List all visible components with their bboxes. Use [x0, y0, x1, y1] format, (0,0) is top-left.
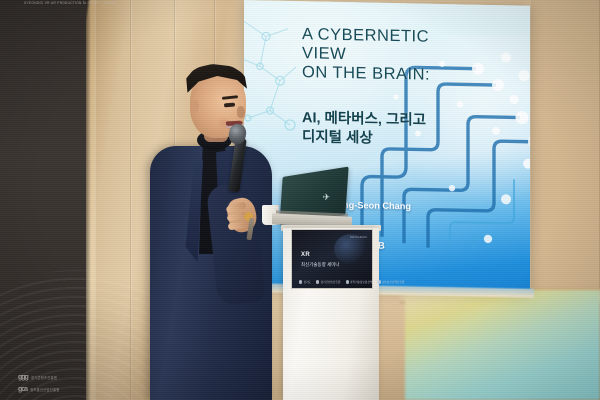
sponsor-label: 과학기술정보통신부: [350, 280, 372, 284]
gca-logo-icon: gca: [18, 386, 27, 393]
speaker: [150, 72, 275, 400]
banner-logo-primary: ggg 경기콘텐츠진흥원: [18, 374, 57, 381]
sponsor-mark-icon: [346, 280, 349, 283]
sponsor-logo: 경기도: [299, 280, 311, 284]
floor: [405, 290, 600, 400]
sponsor-label: 경기도: [304, 280, 311, 284]
banner-logo-label: 경기콘텐츠진흥원: [31, 375, 57, 380]
banner-logo-label-2: 정보통신산업진흥원: [30, 387, 59, 392]
sponsor-mark-icon: [377, 280, 380, 283]
ggg-logo-icon: ggg: [18, 374, 28, 381]
lectern-sign-panel: PROGRAM XR 최신기술동향 세미나 경기도 경기콘텐츠진흥원 과학기술정…: [291, 229, 373, 289]
banner-edge-shadow: [86, 0, 91, 400]
speaker-ear: [190, 100, 199, 113]
speaker-nose: [237, 106, 245, 118]
sponsor-logo: 경기콘텐츠진흥원: [316, 280, 340, 284]
banner-top-text: GYEONGGI VR·AR PRODUCTION SUPPORT CENTER: [6, 2, 134, 6]
sponsor-logo: 과학기술정보통신부: [346, 280, 373, 284]
sponsor-label: 정보통신산업진흥원: [382, 280, 404, 284]
laptop-logo-icon: ✈: [320, 192, 332, 203]
sign-brand-label: PROGRAM: [350, 235, 367, 239]
sponsor-logo-row: 경기도 경기콘텐츠진흥원 과학기술정보통신부 정보통신산업진흥원: [299, 280, 404, 284]
slide-subtitle: AI, 메타버스, 그리고 디지털 세상: [302, 109, 522, 151]
venue-banner: GYEONGGI VR·AR PRODUCTION SUPPORT CENTER…: [0, 0, 86, 400]
sponsor-mark-icon: [316, 280, 319, 283]
sponsor-mark-icon: [299, 280, 302, 283]
sponsor-logo: 정보통신산업진흥원: [377, 280, 404, 284]
banner-logo-secondary: gca 정보통신산업진흥원: [18, 386, 60, 393]
presentation-photo-scene: GYEONGGI VR·AR PRODUCTION SUPPORT CENTER…: [0, 0, 600, 400]
sign-subtitle: 최신기술동향 세미나: [301, 262, 340, 268]
sponsor-label: 경기콘텐츠진흥원: [321, 280, 341, 284]
slide-title: A CYBERNETIC VIEW ON THE BRAIN:: [302, 25, 517, 87]
sign-title: XR: [301, 252, 310, 258]
